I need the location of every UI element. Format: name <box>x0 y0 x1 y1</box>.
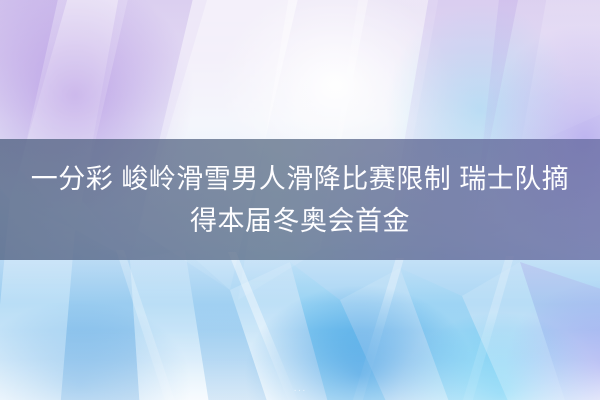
watermark-text: ··· <box>277 384 323 397</box>
headline-overlay-band: 一分彩 峻岭滑雪男人滑降比赛限制 瑞士队摘 得本届冬奥会首金 <box>0 139 600 260</box>
headline-line-1: 一分彩 峻岭滑雪男人滑降比赛限制 瑞士队摘 <box>31 158 570 200</box>
headline-line-2: 得本届冬奥会首金 <box>190 200 410 242</box>
news-banner-image: 一分彩 峻岭滑雪男人滑降比赛限制 瑞士队摘 得本届冬奥会首金 ··· <box>0 0 600 400</box>
